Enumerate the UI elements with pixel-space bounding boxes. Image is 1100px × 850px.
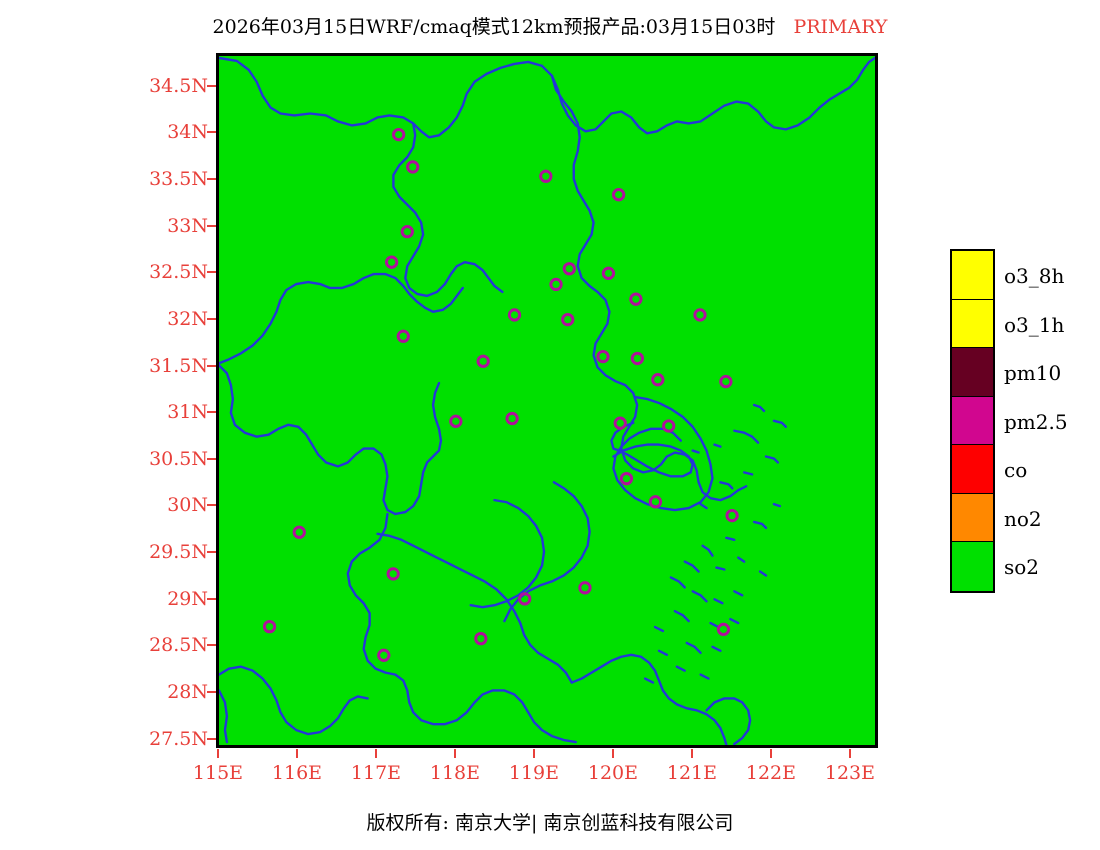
x-axis: 115E116E117E118E119E120E121E122E123E bbox=[0, 0, 1100, 850]
legend-item-no2[interactable]: no2 bbox=[952, 494, 993, 543]
y-axis-tick-mark bbox=[207, 458, 216, 460]
x-axis-tick-mark bbox=[296, 749, 298, 758]
legend-color-swatch bbox=[952, 251, 993, 300]
y-axis-tick-mark bbox=[207, 225, 216, 227]
x-axis-tick-mark bbox=[533, 749, 535, 758]
x-axis-tick-mark bbox=[770, 749, 772, 758]
x-axis-tick-mark bbox=[849, 749, 851, 758]
legend-label: co bbox=[1004, 458, 1027, 482]
y-axis-tick-mark bbox=[207, 365, 216, 367]
y-axis-tick-mark bbox=[207, 178, 216, 180]
x-axis-tick-label: 115E bbox=[193, 762, 243, 784]
y-axis-tick-mark bbox=[207, 411, 216, 413]
y-axis-tick-mark bbox=[207, 691, 216, 693]
legend-label: o3_1h bbox=[1004, 313, 1064, 337]
x-axis-tick-label: 116E bbox=[272, 762, 322, 784]
x-axis-tick-label: 122E bbox=[746, 762, 796, 784]
legend-label: o3_8h bbox=[1004, 264, 1064, 288]
legend-label: pm2.5 bbox=[1004, 410, 1068, 434]
legend-color-swatch bbox=[952, 348, 993, 397]
legend-color-swatch bbox=[952, 445, 993, 494]
y-axis-tick-mark bbox=[207, 644, 216, 646]
x-axis-tick-mark bbox=[612, 749, 614, 758]
x-axis-tick-label: 118E bbox=[430, 762, 480, 784]
legend-item-co[interactable]: co bbox=[952, 445, 993, 494]
x-axis-tick-mark bbox=[454, 749, 456, 758]
x-axis-tick-label: 123E bbox=[825, 762, 875, 784]
y-axis-tick-mark bbox=[207, 131, 216, 133]
legend-color-swatch bbox=[952, 494, 993, 543]
y-axis-tick-mark bbox=[207, 598, 216, 600]
y-axis-tick-mark bbox=[207, 85, 216, 87]
y-axis-tick-mark bbox=[207, 551, 216, 553]
legend-item-so2[interactable]: so2 bbox=[952, 542, 993, 591]
y-axis-tick-mark bbox=[207, 504, 216, 506]
legend-label: so2 bbox=[1004, 555, 1039, 579]
legend-color-swatch bbox=[952, 300, 993, 349]
y-axis-tick-mark bbox=[207, 318, 216, 320]
legend-item-o3-8h[interactable]: o3_8h bbox=[952, 251, 993, 300]
legend-label: pm10 bbox=[1004, 361, 1061, 385]
y-axis-tick-mark bbox=[207, 738, 216, 740]
legend-color-swatch bbox=[952, 542, 993, 591]
x-axis-tick-mark bbox=[691, 749, 693, 758]
legend-panel[interactable]: o3_8ho3_1hpm10pm2.5cono2so2 bbox=[950, 249, 995, 593]
x-axis-tick-label: 119E bbox=[509, 762, 559, 784]
legend-label: no2 bbox=[1004, 507, 1042, 531]
x-axis-tick-label: 121E bbox=[667, 762, 717, 784]
x-axis-tick-mark bbox=[217, 749, 219, 758]
legend-item-pm10[interactable]: pm10 bbox=[952, 348, 993, 397]
copyright-footer: 版权所有: 南京大学| 南京创蓝科技有限公司 bbox=[0, 808, 1100, 835]
legend-item-o3-1h[interactable]: o3_1h bbox=[952, 300, 993, 349]
x-axis-tick-label: 117E bbox=[351, 762, 401, 784]
legend-item-pm2-5[interactable]: pm2.5 bbox=[952, 397, 993, 446]
x-axis-tick-label: 120E bbox=[588, 762, 638, 784]
x-axis-tick-mark bbox=[375, 749, 377, 758]
y-axis-tick-mark bbox=[207, 271, 216, 273]
legend-color-swatch bbox=[952, 397, 993, 446]
